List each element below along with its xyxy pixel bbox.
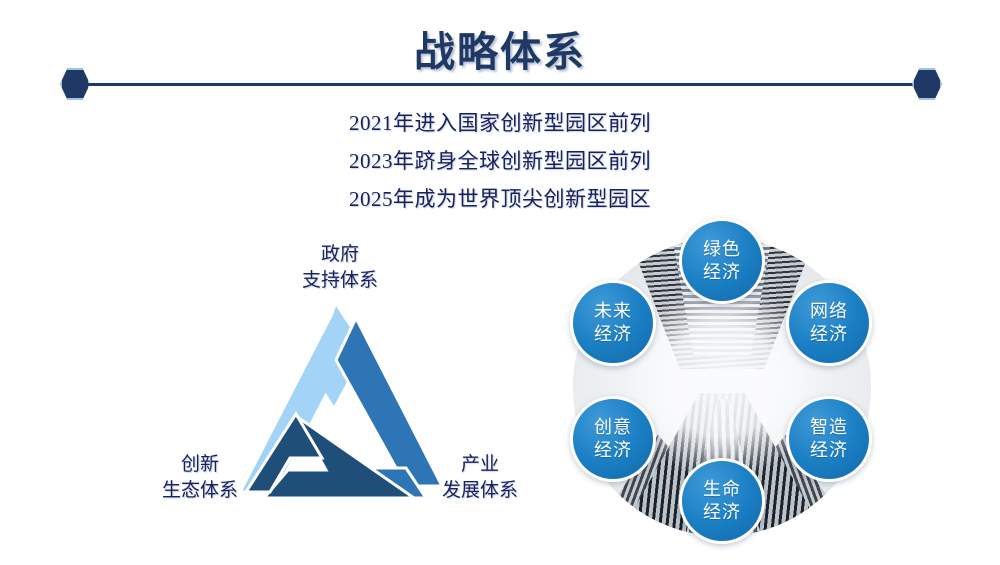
node-life-economy-line2: 经济 — [703, 501, 741, 524]
goal-line-1: 2021年进入国家创新型园区前列 — [0, 104, 1000, 142]
node-smart-manufacturing-economy-line1: 智造 — [810, 416, 848, 439]
triangle-label-right-line2: 发展体系 — [400, 478, 560, 504]
page-title: 战略体系 — [0, 18, 1000, 78]
triangle-label-right: 产业 发展体系 — [400, 452, 560, 504]
node-green-economy-line2: 经济 — [703, 261, 741, 284]
node-life-economy-line1: 生命 — [703, 478, 741, 501]
node-network-economy[interactable]: 网络 经济 — [786, 280, 872, 366]
triangle-label-top-line1: 政府 — [260, 242, 420, 268]
node-future-economy-line1: 未来 — [594, 300, 632, 323]
economy-wheel-diagram: 绿色 经济 网络 经济 智造 经济 生命 经济 创意 经济 未来 经济 — [548, 218, 896, 554]
triangle-label-top: 政府 支持体系 — [260, 242, 420, 294]
triangle-label-left-line2: 生态体系 — [120, 478, 280, 504]
node-creative-economy[interactable]: 创意 经济 — [570, 396, 656, 482]
node-smart-manufacturing-economy-line2: 经济 — [810, 439, 848, 462]
goal-line-3: 2025年成为世界顶尖创新型园区 — [0, 180, 1000, 218]
node-creative-economy-line2: 经济 — [594, 439, 632, 462]
title-divider — [72, 83, 928, 86]
strategy-triangle-diagram: 政府 支持体系 创新 生态体系 产业 发展体系 — [120, 230, 540, 540]
triangle-label-left-line1: 创新 — [120, 452, 280, 478]
node-future-economy-line2: 经济 — [594, 323, 632, 346]
triangle-label-left: 创新 生态体系 — [120, 452, 280, 504]
slide-canvas: 战略体系 2021年进入国家创新型园区前列 2023年跻身全球创新型园区前列 2… — [0, 0, 1000, 565]
node-network-economy-line2: 经济 — [810, 323, 848, 346]
node-life-economy[interactable]: 生命 经济 — [679, 458, 765, 544]
node-green-economy[interactable]: 绿色 经济 — [679, 218, 765, 304]
triangle-label-top-line2: 支持体系 — [260, 268, 420, 294]
node-smart-manufacturing-economy[interactable]: 智造 经济 — [786, 396, 872, 482]
node-network-economy-line1: 网络 — [810, 300, 848, 323]
node-future-economy[interactable]: 未来 经济 — [570, 280, 656, 366]
node-green-economy-line1: 绿色 — [703, 238, 741, 261]
triangle-label-right-line1: 产业 — [400, 452, 560, 478]
node-creative-economy-line1: 创意 — [594, 416, 632, 439]
goal-list: 2021年进入国家创新型园区前列 2023年跻身全球创新型园区前列 2025年成… — [0, 104, 1000, 218]
goal-line-2: 2023年跻身全球创新型园区前列 — [0, 142, 1000, 180]
